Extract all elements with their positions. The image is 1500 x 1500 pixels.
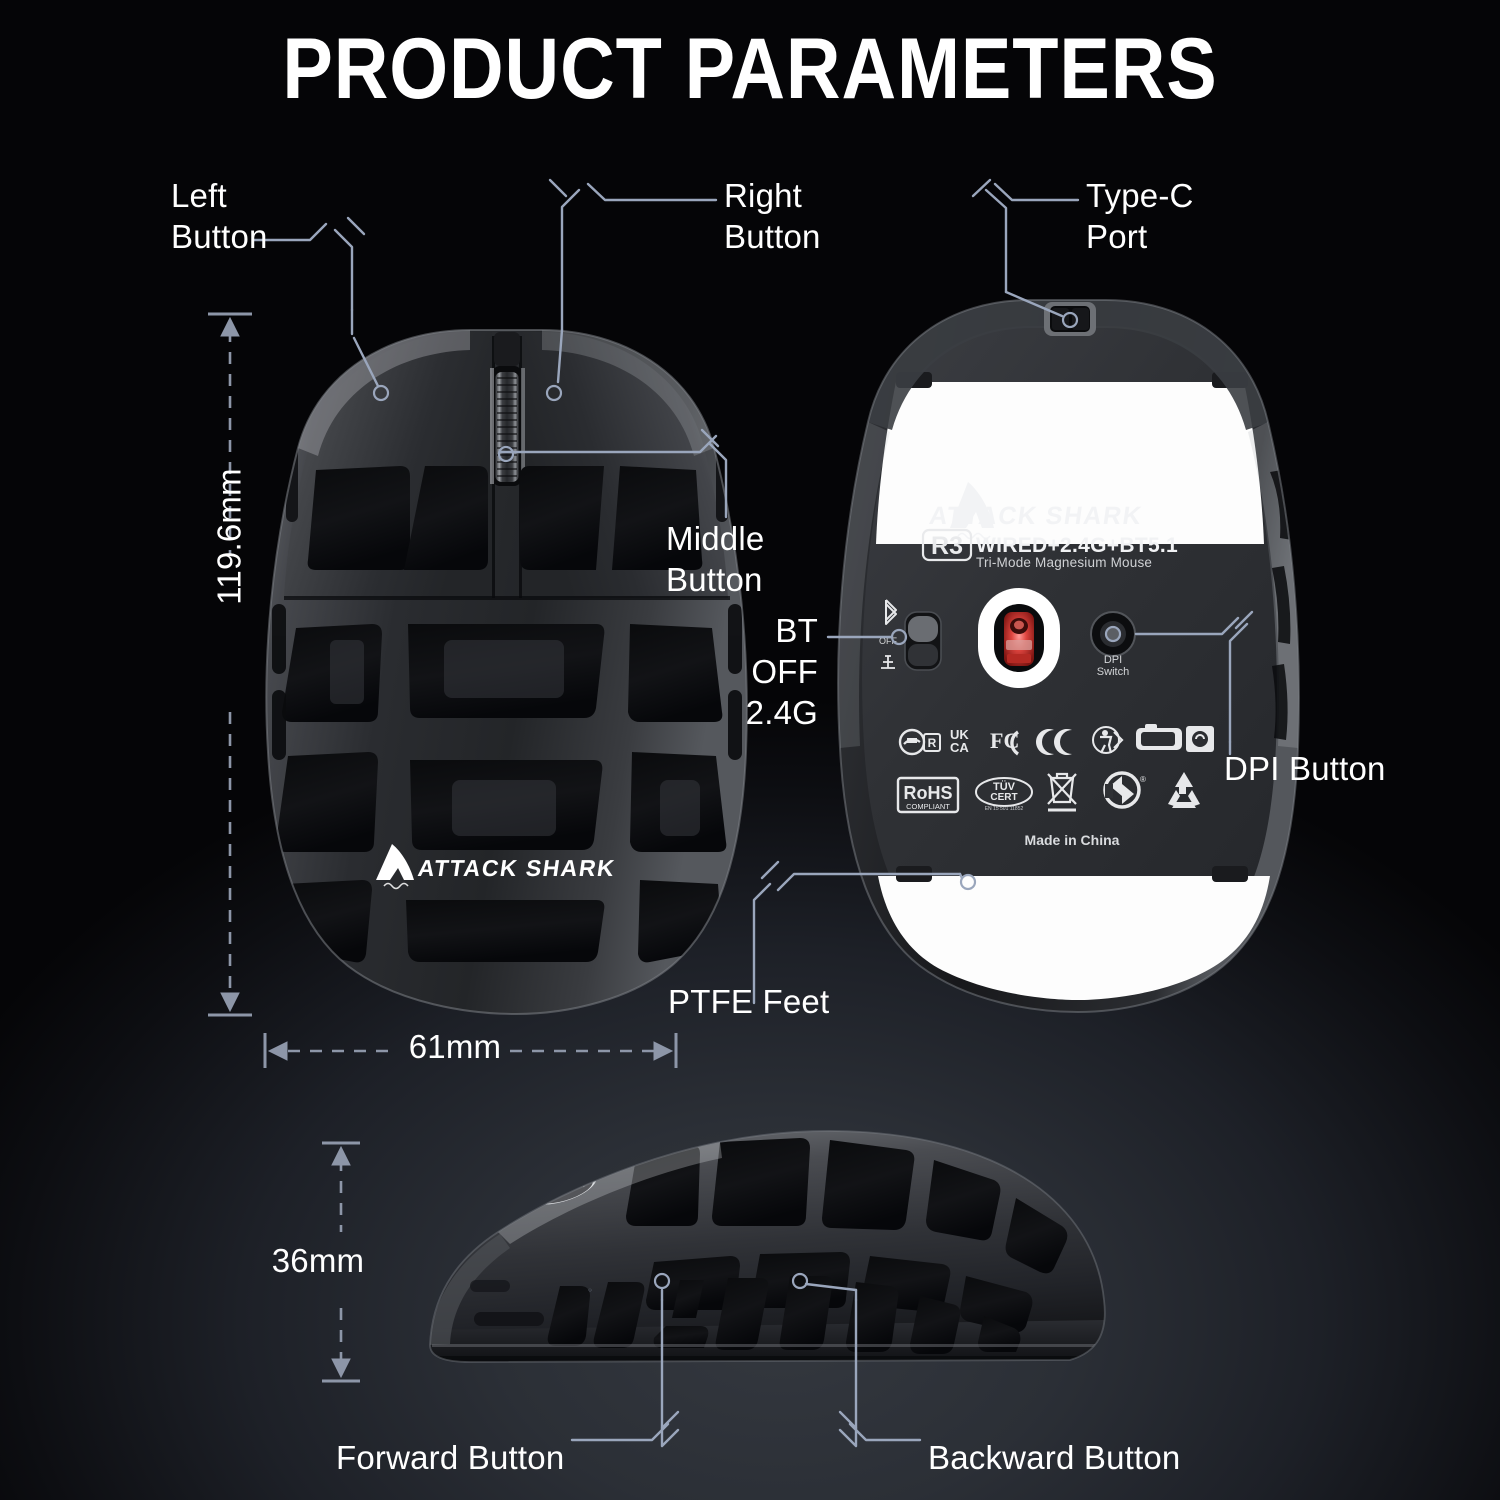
- leader-mode-switch: [828, 630, 906, 644]
- callout-label-right-button: Right Button: [724, 176, 821, 258]
- callout-label-backward-button: Backward Button: [928, 1438, 1180, 1479]
- dimension-value-width: 61mm: [400, 1027, 510, 1068]
- callout-label-middle-button: Middle Button: [666, 519, 764, 601]
- callout-label-left-button: Left Button: [171, 176, 268, 258]
- product-parameters-poster: PRODUCT PARAMETERS: [0, 0, 1500, 1500]
- dimension-value-length: 119.6mm: [210, 411, 251, 661]
- callout-label-dpi-button: DPI Button: [1224, 749, 1386, 790]
- callout-label-type-c-port: Type-C Port: [1086, 176, 1194, 258]
- callout-label-ptfe-feet: PTFE Feet: [668, 982, 829, 1023]
- callout-label-mode-switch: BT OFF 2.4G: [640, 611, 818, 734]
- dimension-value-height: 36mm: [258, 1241, 378, 1282]
- leader-left-button: [254, 218, 388, 400]
- callout-label-forward-button: Forward Button: [336, 1438, 564, 1479]
- leader-middle-button: [499, 430, 726, 517]
- leader-dpi-button: [1106, 612, 1252, 754]
- leader-right-button: [547, 180, 716, 400]
- leader-backward-button: [793, 1274, 920, 1446]
- leader-type-c-port: [973, 180, 1078, 327]
- leader-forward-button: [572, 1274, 678, 1446]
